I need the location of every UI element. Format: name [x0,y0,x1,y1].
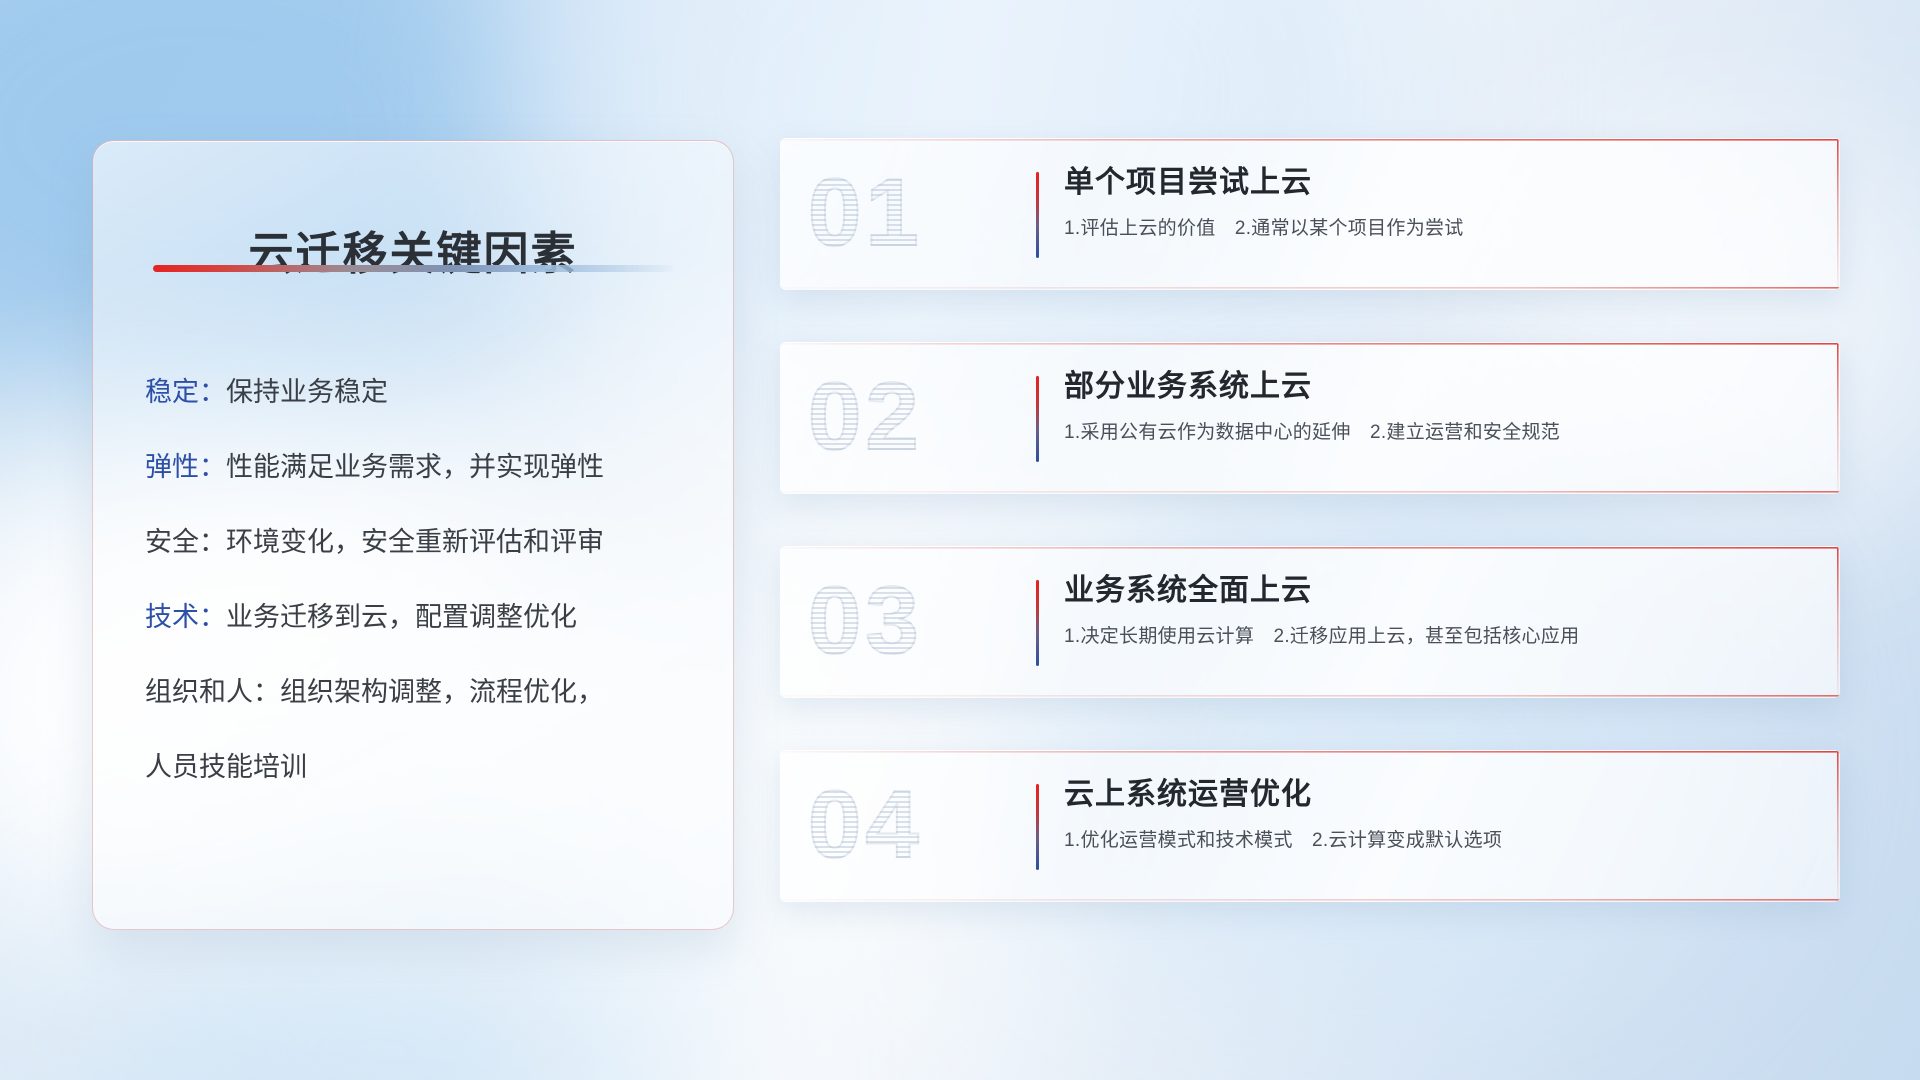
list-item: 安全：环境变化，安全重新评估和评审 [145,529,703,556]
stage-title: 云上系统运营优化 [1064,776,1816,814]
list-item: 弹性：性能满足业务需求，并实现弹性 [145,454,703,481]
stage-number-04: 04 [808,766,1008,884]
stage-text-01: 单个项目尝试上云 1.评估上云的价值 2.通常以某个项目作为尝试 [1064,164,1816,241]
key-factors-panel: 云迁移关键因素 稳定：保持业务稳定 弹性：性能满足业务需求，并实现弹性 安全：环… [92,140,734,930]
stage-title: 部分业务系统上云 [1064,368,1816,406]
factor-value: 业务迁移到云，配置调整优化 [226,602,577,632]
title-underline [153,265,673,272]
accent-bar [1036,172,1039,258]
factor-key: 安全： [145,527,226,557]
stage-card-04[interactable]: 04 云上系统运营优化 1.优化运营模式和技术模式 2.云计算变成默认选项 [780,750,1840,902]
page-title: 云迁移关键因素 [93,217,733,282]
stage-number-03: 03 [808,562,1008,680]
factor-value: 人员技能培训 [145,752,307,782]
factor-key: 弹性： [145,452,226,482]
factor-value: 环境变化，安全重新评估和评审 [226,527,604,557]
factor-key: 技术： [145,602,226,632]
stage-description: 1.优化运营模式和技术模式 2.云计算变成默认选项 [1064,829,1816,854]
stage-number-02: 02 [808,358,1008,476]
factor-key: 组织和人： [145,677,280,707]
factor-value: 性能满足业务需求，并实现弹性 [226,452,604,482]
stage-title: 业务系统全面上云 [1064,572,1816,610]
stage-description: 1.决定长期使用云计算 2.迁移应用上云，甚至包括核心应用 [1064,625,1816,650]
accent-bar [1036,784,1039,870]
factor-key: 稳定： [145,377,226,407]
factor-value: 保持业务稳定 [226,377,388,407]
stage-card-01[interactable]: 01 单个项目尝试上云 1.评估上云的价值 2.通常以某个项目作为尝试 [780,138,1840,290]
stage-description: 1.采用公有云作为数据中心的延伸 2.建立运营和安全规范 [1064,421,1816,446]
slide-stage: 云迁移关键因素 稳定：保持业务稳定 弹性：性能满足业务需求，并实现弹性 安全：环… [0,0,1920,1080]
list-item: 技术：业务迁移到云，配置调整优化 [145,604,703,631]
stage-description: 1.评估上云的价值 2.通常以某个项目作为尝试 [1064,217,1816,242]
stage-title: 单个项目尝试上云 [1064,164,1816,202]
key-factors-list: 稳定：保持业务稳定 弹性：性能满足业务需求，并实现弹性 安全：环境变化，安全重新… [145,379,703,781]
accent-bar [1036,580,1039,666]
stage-text-04: 云上系统运营优化 1.优化运营模式和技术模式 2.云计算变成默认选项 [1064,776,1816,853]
migration-stage-cards: 01 单个项目尝试上云 1.评估上云的价值 2.通常以某个项目作为尝试 02 部… [780,138,1840,902]
list-item: 组织和人：组织架构调整，流程优化， [145,679,703,706]
stage-text-02: 部分业务系统上云 1.采用公有云作为数据中心的延伸 2.建立运营和安全规范 [1064,368,1816,445]
stage-card-02[interactable]: 02 部分业务系统上云 1.采用公有云作为数据中心的延伸 2.建立运营和安全规范 [780,342,1840,494]
list-item: 人员技能培训 [145,754,703,781]
list-item: 稳定：保持业务稳定 [145,379,703,406]
accent-bar [1036,376,1039,462]
factor-value: 组织架构调整，流程优化， [280,677,604,707]
stage-text-03: 业务系统全面上云 1.决定长期使用云计算 2.迁移应用上云，甚至包括核心应用 [1064,572,1816,649]
stage-card-03[interactable]: 03 业务系统全面上云 1.决定长期使用云计算 2.迁移应用上云，甚至包括核心应… [780,546,1840,698]
stage-number-01: 01 [808,154,1008,272]
